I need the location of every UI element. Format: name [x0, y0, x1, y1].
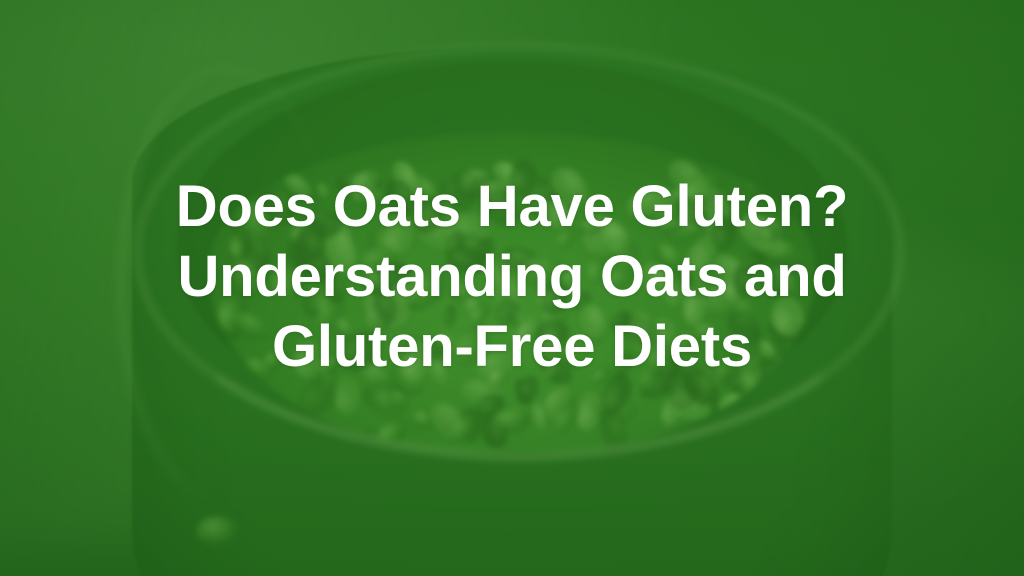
hero-title-block: Does Oats Have Gluten? Understanding Oat… — [0, 172, 1024, 382]
page-title: Does Oats Have Gluten? Understanding Oat… — [48, 172, 976, 382]
article-hero-banner: Does Oats Have Gluten? Understanding Oat… — [0, 0, 1024, 576]
title-line-2: Understanding Oats and — [48, 242, 976, 312]
title-line-1: Does Oats Have Gluten? — [48, 172, 976, 242]
title-line-3: Gluten-Free Diets — [48, 312, 976, 382]
